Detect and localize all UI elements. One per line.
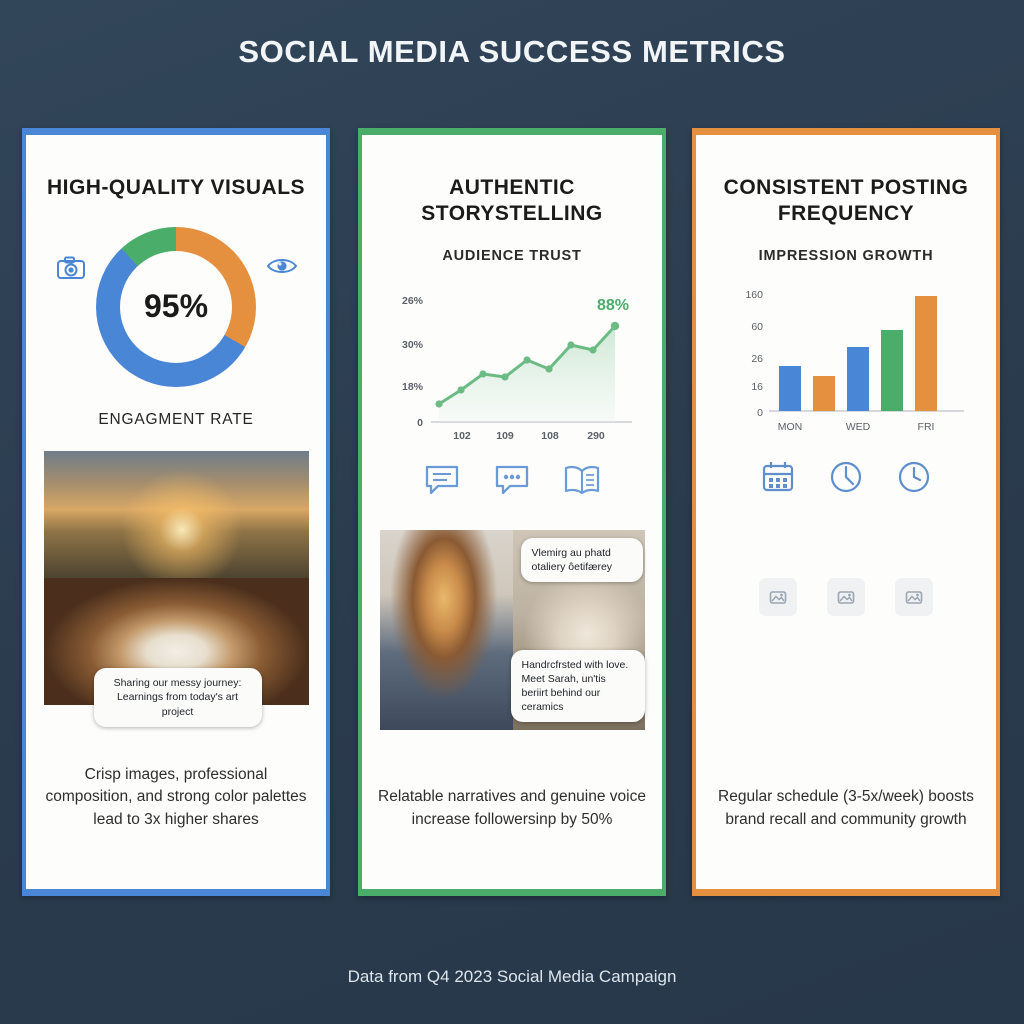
x-tick-3: 290: [587, 430, 605, 442]
impression-growth-bar-chart: 160 60 26 16 0 MON WED FRI: [721, 278, 971, 443]
audience-trust-chart-title: AUDIENCE TRUST: [442, 248, 581, 264]
x-label-mon: MON: [778, 421, 803, 433]
open-book-icon: [563, 463, 601, 502]
x-tick-2: 108: [541, 430, 559, 442]
bars: [779, 296, 937, 411]
story-photo-pair: Vlemirg au phatd otaliery ôetifærey Hand…: [380, 530, 645, 730]
sunset-landscape-photo: [44, 451, 309, 578]
image-placeholder-icon: [837, 589, 855, 605]
card-authentic-storytelling: AUTHENTIC STORYSTELLING AUDIENCE TRUST 2…: [358, 128, 666, 896]
storytelling-icon-row: [362, 463, 662, 502]
chat-lines-icon: [423, 463, 461, 502]
y-tick-1: 18%: [402, 381, 424, 393]
calendar-icon: [760, 459, 796, 500]
clock-icon: [828, 459, 864, 500]
donut-center: 95%: [120, 251, 232, 363]
story-bubble-top: Vlemirg au phatd otaliery ôetifærey: [521, 538, 643, 582]
x-label-wed: WED: [846, 421, 871, 433]
camera-icon: [56, 255, 86, 286]
y-tick-4: 160: [745, 289, 763, 301]
card-title: HIGH-QUALITY VISUALS: [46, 175, 306, 201]
image-placeholder-tile: [827, 578, 865, 616]
card-caption: Regular schedule (3-5x/week) boosts bran…: [710, 786, 982, 831]
card-caption: Relatable narratives and genuine voice i…: [376, 786, 648, 831]
y-tick-3: 60: [751, 321, 763, 333]
image-placeholder-icon: [905, 589, 923, 605]
y-tick-2: 26: [751, 353, 763, 365]
donut-ring: 95%: [96, 227, 256, 387]
impression-growth-chart-title: IMPRESSION GROWTH: [759, 248, 934, 264]
clock-icon: [896, 459, 932, 500]
chat-dots-icon: [493, 463, 531, 502]
audience-trust-area-chart: 26% 30% 18% 0 88% 102 109 108 290: [387, 282, 637, 447]
card-consistent-posting-frequency: CONSISTENT POSTING FREQUENCY IMPRESSION …: [692, 128, 1000, 896]
trust-value-annotation: 88%: [597, 297, 629, 314]
artist-portrait-photo: [380, 530, 513, 730]
bar-tue: [813, 376, 835, 411]
y-tick-1: 16: [751, 381, 763, 393]
y-tick-0: 0: [417, 417, 423, 429]
x-tick-1: 109: [496, 430, 514, 442]
image-placeholder-tile: [759, 578, 797, 616]
card-title: CONSISTENT POSTING FREQUENCY: [716, 175, 976, 226]
image-placeholder-icon: [769, 589, 787, 605]
photo-caption-bubble: Sharing our messy journey: Learnings fro…: [94, 668, 262, 726]
posting-icon-row: [696, 459, 996, 500]
x-tick-0: 102: [453, 430, 471, 442]
image-placeholder-row: [759, 578, 933, 616]
card-caption: Crisp images, professional composition, …: [40, 764, 312, 831]
bar-thu: [881, 330, 903, 411]
engagement-value: 95%: [144, 288, 208, 325]
y-tick-3: 26%: [402, 295, 424, 307]
eye-icon: [266, 255, 298, 282]
bar-fri: [915, 296, 937, 411]
photo-stack: Sharing our messy journey: Learnings fro…: [44, 451, 309, 705]
infographic-poster: SOCIAL MEDIA SUCCESS METRICS HIGH-QUALIT…: [0, 0, 1024, 1024]
bar-mon: [779, 366, 801, 411]
x-label-fri: FRI: [918, 421, 935, 433]
engagement-donut-chart: 95%: [46, 227, 306, 395]
y-tick-2: 30%: [402, 339, 424, 351]
image-placeholder-tile: [895, 578, 933, 616]
page-title: SOCIAL MEDIA SUCCESS METRICS: [0, 34, 1024, 70]
area-fill: [439, 326, 615, 422]
y-tick-0: 0: [757, 407, 763, 419]
card-title: AUTHENTIC STORYSTELLING: [382, 175, 642, 226]
footer-source-text: Data from Q4 2023 Social Media Campaign: [0, 967, 1024, 987]
bar-wed: [847, 347, 869, 411]
card-high-quality-visuals: HIGH-QUALITY VISUALS 95%: [22, 128, 330, 896]
engagement-rate-label: ENGAGMENT RATE: [98, 411, 253, 429]
story-bubble-bottom: Handrcfrsted with love. Meet Sarah, un't…: [511, 650, 645, 722]
